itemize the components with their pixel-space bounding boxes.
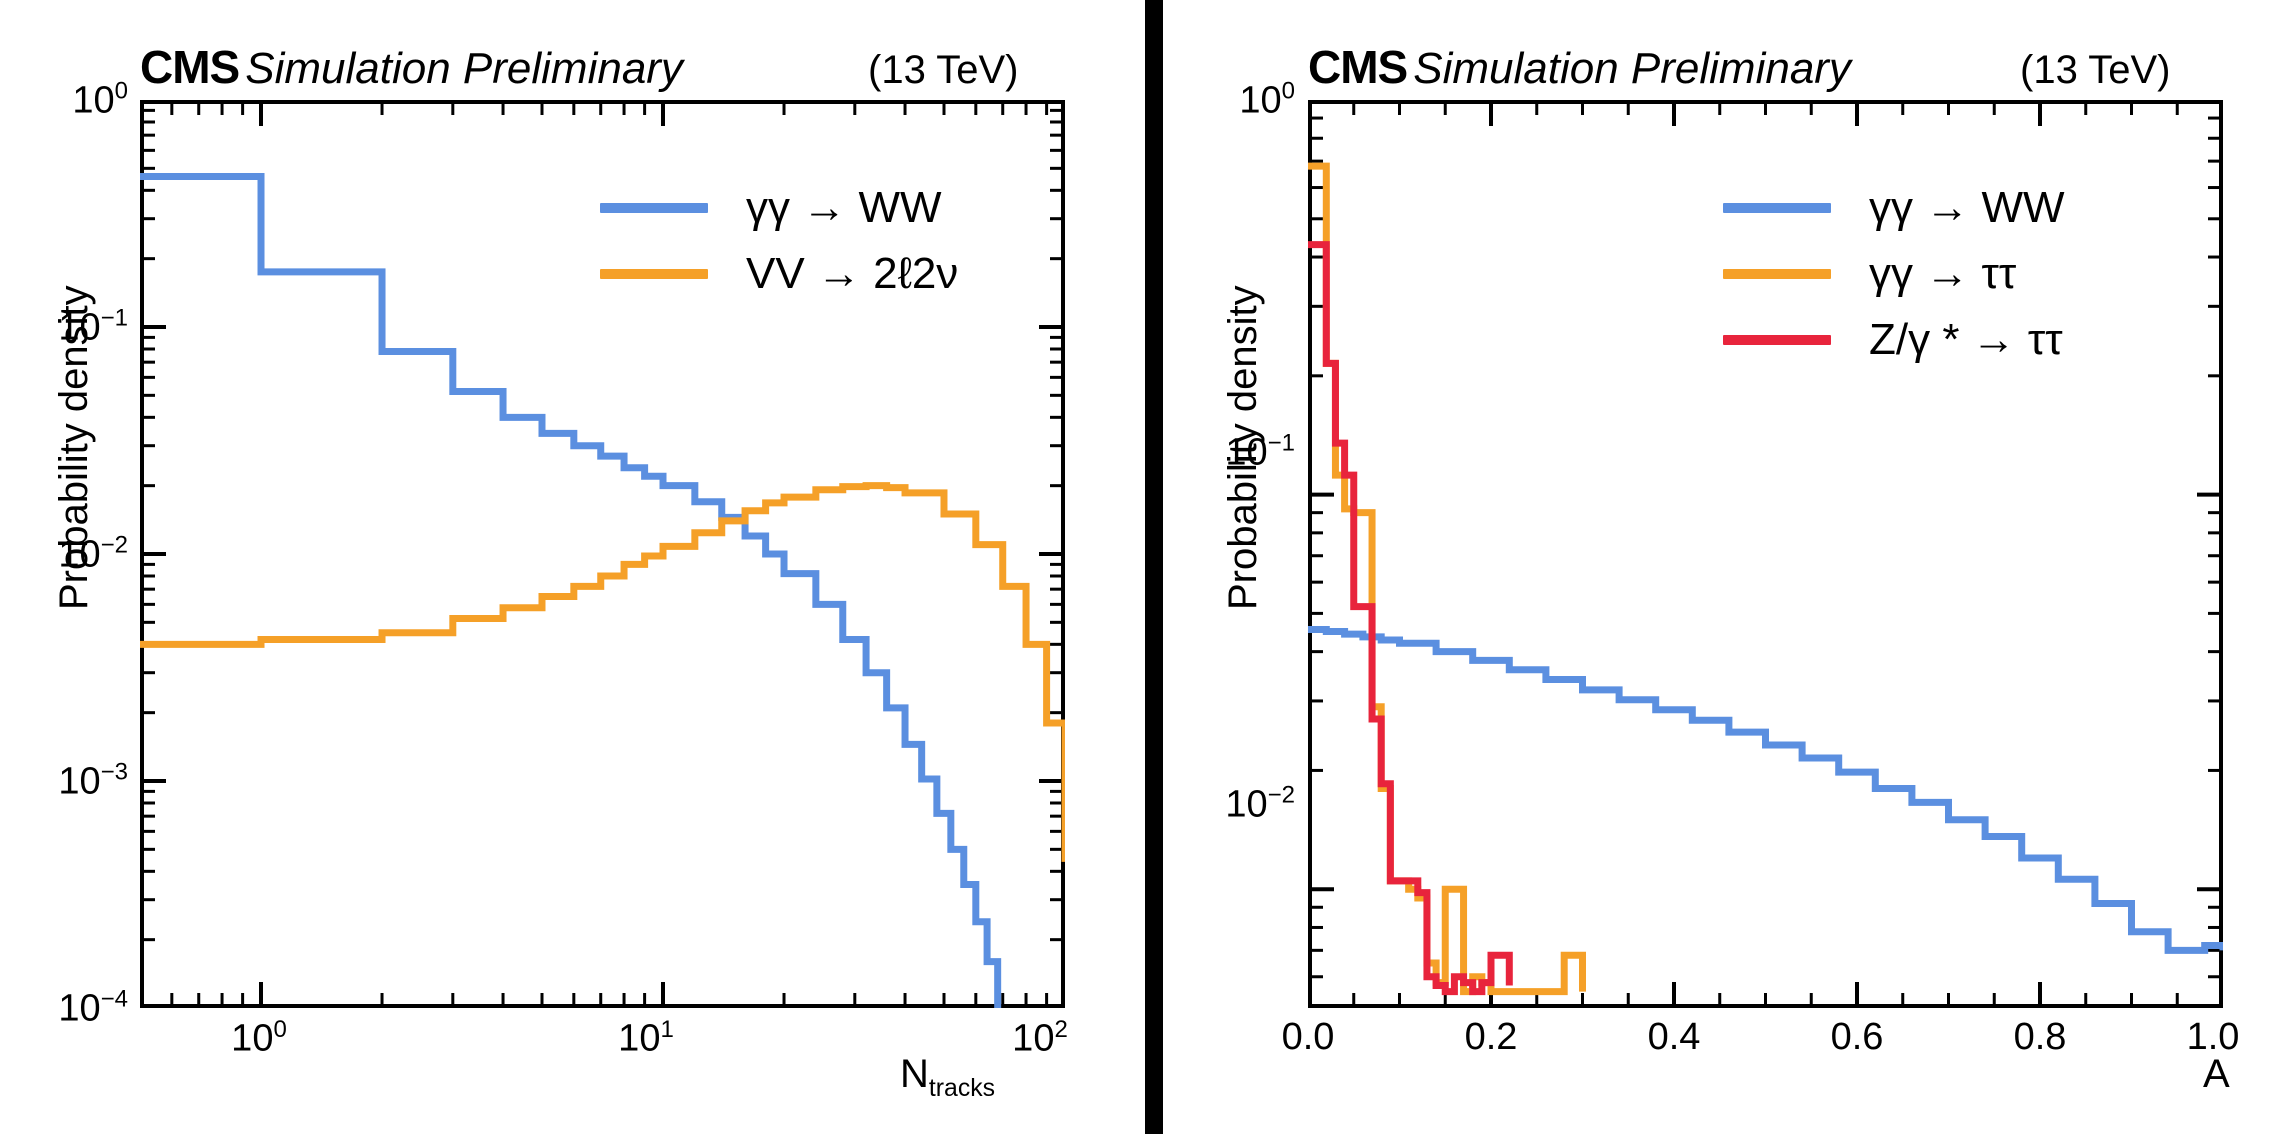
series-γγ → ττ bbox=[1308, 166, 1583, 992]
legend-swatch-icon bbox=[1723, 203, 1831, 213]
right-ytick-1-exp: −1 bbox=[1268, 430, 1295, 457]
cms-status-text: Simulation Preliminary bbox=[245, 44, 683, 94]
left-ytick-3-mantissa: 10 bbox=[58, 760, 100, 802]
left-xtick-1-exp: 1 bbox=[660, 1016, 673, 1043]
right-xtick-1: 0.2 bbox=[1465, 1016, 1518, 1059]
right-xtick-5: 1.0 bbox=[2187, 1016, 2240, 1059]
right-ytick-2-exp: −2 bbox=[1268, 782, 1295, 809]
left-xtick-2-exp: 2 bbox=[1054, 1016, 1067, 1043]
right-ytick-0-exp: 0 bbox=[1282, 78, 1295, 105]
legend-item-2[interactable]: Z/γ * → ττ bbox=[1723, 307, 2065, 373]
panel-divider bbox=[1145, 0, 1163, 1134]
right-xtick-4: 0.8 bbox=[2014, 1016, 2067, 1059]
right-ytick-1-mantissa: 10 bbox=[1225, 431, 1267, 473]
left-ytick-1-exp: −1 bbox=[101, 305, 128, 332]
left-energy-label: (13 TeV) bbox=[868, 48, 1018, 93]
right-ytick-2: 10−2 bbox=[1163, 782, 1295, 827]
left-xtick-0: 100 bbox=[231, 1016, 287, 1061]
right-xtick-0: 0.0 bbox=[1282, 1016, 1335, 1059]
left-ytick-0: 100 bbox=[0, 78, 128, 123]
right-xtick-3: 0.6 bbox=[1831, 1016, 1884, 1059]
legend-swatch-icon bbox=[600, 203, 708, 213]
left-xtick-1-mantissa: 10 bbox=[618, 1018, 660, 1060]
left-ytick-2: 10−2 bbox=[0, 532, 128, 577]
legend-swatch-icon bbox=[1723, 335, 1831, 345]
left-ytick-3: 10−3 bbox=[0, 759, 128, 804]
right-xtick-2: 0.4 bbox=[1648, 1016, 1701, 1059]
figure-canvas: CMS Simulation Preliminary (13 TeV) Prob… bbox=[0, 0, 2284, 1134]
left-xtick-2-mantissa: 10 bbox=[1012, 1018, 1054, 1060]
left-x-axis-title-main: N bbox=[900, 1052, 929, 1096]
left-ytick-4-exp: −4 bbox=[101, 986, 128, 1013]
left-x-axis-title-sub: tracks bbox=[929, 1075, 995, 1102]
left-ytick-2-mantissa: 10 bbox=[58, 533, 100, 575]
legend-item-1[interactable]: γγ → ττ bbox=[1723, 241, 2065, 307]
legend-label: γγ → WW bbox=[746, 183, 942, 233]
series-VV → 2ℓ2ν bbox=[140, 486, 1065, 862]
left-ytick-4-mantissa: 10 bbox=[58, 987, 100, 1029]
right-ytick-0: 100 bbox=[1163, 78, 1295, 123]
legend-label: Z/γ * → ττ bbox=[1869, 315, 2063, 365]
left-ytick-3-exp: −3 bbox=[101, 759, 128, 786]
left-ytick-0-mantissa: 10 bbox=[72, 79, 114, 121]
right-ytick-0-mantissa: 10 bbox=[1239, 79, 1281, 121]
left-xtick-0-mantissa: 10 bbox=[231, 1018, 273, 1060]
left-ytick-2-exp: −2 bbox=[101, 532, 128, 559]
legend-item-0[interactable]: γγ → WW bbox=[600, 175, 958, 241]
left-ytick-1-mantissa: 10 bbox=[58, 306, 100, 348]
cms-logo-text: CMS bbox=[140, 40, 239, 94]
legend-label: γγ → WW bbox=[1869, 183, 2065, 233]
left-x-axis-title: Ntracks bbox=[900, 1052, 995, 1103]
left-ytick-4: 10−4 bbox=[0, 986, 128, 1031]
cms-status-text: Simulation Preliminary bbox=[1413, 44, 1851, 94]
legend-item-0[interactable]: γγ → WW bbox=[1723, 175, 2065, 241]
left-xtick-0-exp: 0 bbox=[273, 1016, 286, 1043]
cms-logo-text: CMS bbox=[1308, 40, 1407, 94]
right-energy-label: (13 TeV) bbox=[2020, 48, 2170, 93]
right-cms-header: CMS Simulation Preliminary bbox=[1308, 40, 1851, 94]
left-plot-panel: CMS Simulation Preliminary (13 TeV) Prob… bbox=[0, 0, 1145, 1134]
left-ytick-0-exp: 0 bbox=[115, 78, 128, 105]
left-xtick-2: 102 bbox=[1012, 1016, 1068, 1061]
legend-label: VV → 2ℓ2ν bbox=[746, 249, 958, 299]
left-xtick-1: 101 bbox=[618, 1016, 674, 1061]
legend-swatch-icon bbox=[1723, 269, 1831, 279]
left-cms-header: CMS Simulation Preliminary bbox=[140, 40, 683, 94]
left-legend: γγ → WWVV → 2ℓ2ν bbox=[600, 175, 958, 307]
left-ytick-1: 10−1 bbox=[0, 305, 128, 350]
right-plot-panel: CMS Simulation Preliminary (13 TeV) Prob… bbox=[1163, 0, 2284, 1134]
series-Z/γ * → ττ bbox=[1308, 245, 1509, 992]
right-ytick-2-mantissa: 10 bbox=[1225, 783, 1267, 825]
legend-swatch-icon bbox=[600, 269, 708, 279]
right-ytick-1: 10−1 bbox=[1163, 430, 1295, 475]
legend-label: γγ → ττ bbox=[1869, 249, 2016, 299]
legend-item-1[interactable]: VV → 2ℓ2ν bbox=[600, 241, 958, 307]
right-legend: γγ → WWγγ → ττZ/γ * → ττ bbox=[1723, 175, 2065, 373]
